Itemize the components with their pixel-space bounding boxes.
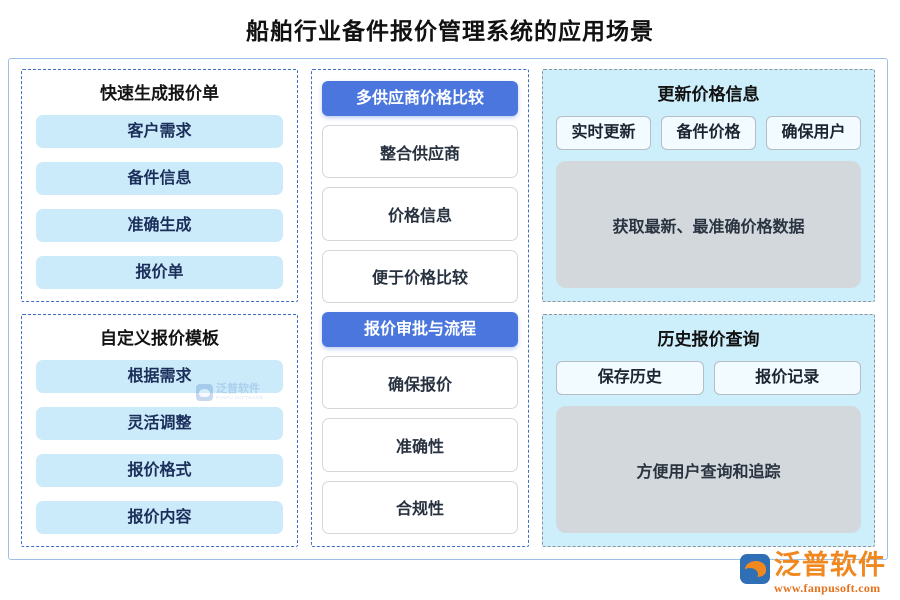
pill-item[interactable]: 确保用户	[766, 116, 861, 150]
columns-container: 快速生成报价单 客户需求 备件信息 准确生成 报价单 自定义报价模板 根据需求 …	[9, 59, 887, 559]
pill-row: 保存历史 报价记录	[556, 361, 861, 395]
section-item[interactable]: 便于价格比较	[322, 250, 518, 303]
group-custom-template: 自定义报价模板 根据需求 灵活调整 报价格式 报价内容	[21, 314, 298, 547]
swoosh-shape-icon	[745, 561, 766, 577]
section-header[interactable]: 报价审批与流程	[322, 312, 518, 347]
group-title: 快速生成报价单	[36, 79, 283, 104]
pill-row: 实时更新 备件价格 确保用户	[556, 116, 861, 150]
panel-title: 历史报价查询	[556, 325, 861, 350]
panel-title: 更新价格信息	[556, 80, 861, 105]
chip-item[interactable]: 报价内容	[36, 501, 283, 534]
diagram-frame: 快速生成报价单 客户需求 备件信息 准确生成 报价单 自定义报价模板 根据需求 …	[8, 58, 888, 560]
pill-item[interactable]: 保存历史	[556, 361, 704, 395]
section-item[interactable]: 价格信息	[322, 187, 518, 240]
section-quote-approval: 报价审批与流程 确保报价 准确性 合规性	[322, 312, 518, 534]
left-column: 快速生成报价单 客户需求 备件信息 准确生成 报价单 自定义报价模板 根据需求 …	[21, 69, 298, 547]
chip-item[interactable]: 客户需求	[36, 115, 283, 148]
chip-item[interactable]: 备件信息	[36, 162, 283, 195]
chip-item[interactable]: 报价单	[36, 256, 283, 289]
pill-item[interactable]: 备件价格	[661, 116, 756, 150]
pill-item[interactable]: 实时更新	[556, 116, 651, 150]
section-item[interactable]: 整合供应商	[322, 125, 518, 178]
group-quick-quote: 快速生成报价单 客户需求 备件信息 准确生成 报价单	[21, 69, 298, 302]
page-title: 船舶行业备件报价管理系统的应用场景	[0, 0, 900, 48]
chip-list: 根据需求 灵活调整 报价格式 报价内容	[36, 360, 283, 534]
pill-item[interactable]: 报价记录	[714, 361, 862, 395]
section-item[interactable]: 确保报价	[322, 356, 518, 409]
chip-item[interactable]: 报价格式	[36, 454, 283, 487]
chip-item[interactable]: 准确生成	[36, 209, 283, 242]
panel-note: 获取最新、最准确价格数据	[556, 161, 861, 288]
brand-logo: 泛普软件 www.fanpusoft.com	[740, 552, 886, 594]
panel-note: 方便用户查询和追踪	[556, 406, 861, 533]
brand-name: 泛普软件	[774, 552, 886, 579]
section-header[interactable]: 多供应商价格比较	[322, 81, 518, 116]
section-supplier-comparison: 多供应商价格比较 整合供应商 价格信息 便于价格比较	[322, 81, 518, 303]
section-item[interactable]: 准确性	[322, 418, 518, 471]
brand-url[interactable]: www.fanpusoft.com	[774, 582, 886, 594]
section-item[interactable]: 合规性	[322, 481, 518, 534]
panel-history-query: 历史报价查询 保存历史 报价记录 方便用户查询和追踪	[542, 314, 875, 547]
chip-item[interactable]: 灵活调整	[36, 407, 283, 440]
middle-column: 多供应商价格比较 整合供应商 价格信息 便于价格比较 报价审批与流程 确保报价 …	[311, 69, 529, 547]
brand-text: 泛普软件 www.fanpusoft.com	[774, 552, 886, 594]
group-title: 自定义报价模板	[36, 324, 283, 349]
fanpu-mark-icon	[740, 554, 770, 584]
panel-price-update: 更新价格信息 实时更新 备件价格 确保用户 获取最新、最准确价格数据	[542, 69, 875, 302]
chip-item[interactable]: 根据需求	[36, 360, 283, 393]
right-column: 更新价格信息 实时更新 备件价格 确保用户 获取最新、最准确价格数据 历史报价查…	[542, 69, 875, 547]
chip-list: 客户需求 备件信息 准确生成 报价单	[36, 115, 283, 289]
